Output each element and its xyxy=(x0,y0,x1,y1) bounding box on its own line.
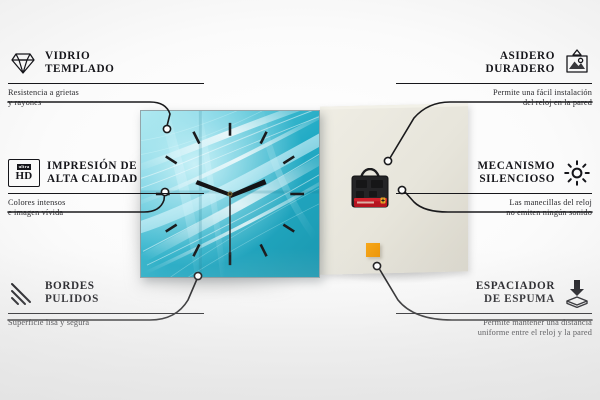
divider xyxy=(396,83,592,84)
feature-title-line1: IMPRESIÓN DE xyxy=(47,160,138,173)
feature-title-line1: ASIDERO xyxy=(486,50,555,63)
clock-hands xyxy=(195,179,266,255)
feature-subtitle-line1: Las manecillas del reloj xyxy=(396,198,592,208)
clock-mechanism xyxy=(347,168,393,212)
feature-bordes-pulidos: BORDES PULIDOS Superficie lisa y segura xyxy=(8,276,204,328)
gear-icon xyxy=(562,158,592,188)
foam-spacer-icon xyxy=(562,278,592,308)
feature-impresion-alta-calidad: ultraHD IMPRESIÓN DE ALTA CALIDAD Colore… xyxy=(8,156,204,219)
feature-title-line1: ESPACIADOR xyxy=(476,280,555,293)
foam-spacer-sample xyxy=(366,243,380,257)
feature-subtitle-line2: no emiten ningún sonido xyxy=(396,208,592,218)
feature-vidrio-templado: VIDRIO TEMPLADO Resistencia a grietas y … xyxy=(8,46,204,109)
divider xyxy=(396,313,592,314)
ultra-hd-icon: ultraHD xyxy=(8,159,40,187)
feature-title-line2: ALTA CALIDAD xyxy=(47,173,138,186)
product-infographic: VIDRIO TEMPLADO Resistencia a grietas y … xyxy=(0,0,600,400)
feature-subtitle-line1: Permite mantener una distancia xyxy=(396,318,592,328)
feature-subtitle-line1: Colores intensos xyxy=(8,198,204,208)
divider xyxy=(8,193,204,194)
feature-title-line1: VIDRIO xyxy=(45,50,114,63)
feature-title-line2: DE ESPUMA xyxy=(476,293,555,306)
feature-subtitle-line2: uniforme entre el reloj y la pared xyxy=(396,328,592,338)
feature-title-line2: TEMPLADO xyxy=(45,63,114,76)
feature-subtitle-line2: e imagen vívida xyxy=(8,208,204,218)
polished-edges-icon xyxy=(8,278,38,308)
feature-asidero-duradero: ASIDERO DURADERO Permite una fácil insta… xyxy=(396,46,592,109)
feature-title-line2: DURADERO xyxy=(486,63,555,76)
feature-title-line1: MECANISMO xyxy=(478,160,556,173)
feature-subtitle-line2: del reloj en la pared xyxy=(396,98,592,108)
feature-subtitle-line1: Permite una fácil instalación xyxy=(396,88,592,98)
feature-mecanismo-silencioso: MECANISMO SILENCIOSO Las manecillas del … xyxy=(396,156,592,219)
divider xyxy=(396,193,592,194)
divider xyxy=(8,313,204,314)
feature-espaciador-de-espuma: ESPACIADOR DE ESPUMA Permite mantener un… xyxy=(396,276,592,339)
diamond-icon xyxy=(8,48,38,78)
feature-subtitle-line2: y rayones xyxy=(8,98,204,108)
divider xyxy=(8,83,204,84)
picture-hanger-icon xyxy=(562,48,592,78)
feature-subtitle-line1: Resistencia a grietas xyxy=(8,88,204,98)
feature-title-line2: SILENCIOSO xyxy=(478,173,556,186)
feature-title-line2: PULIDOS xyxy=(45,293,99,306)
feature-subtitle-line1: Superficie lisa y segura xyxy=(8,318,204,328)
feature-title-line1: BORDES xyxy=(45,280,99,293)
